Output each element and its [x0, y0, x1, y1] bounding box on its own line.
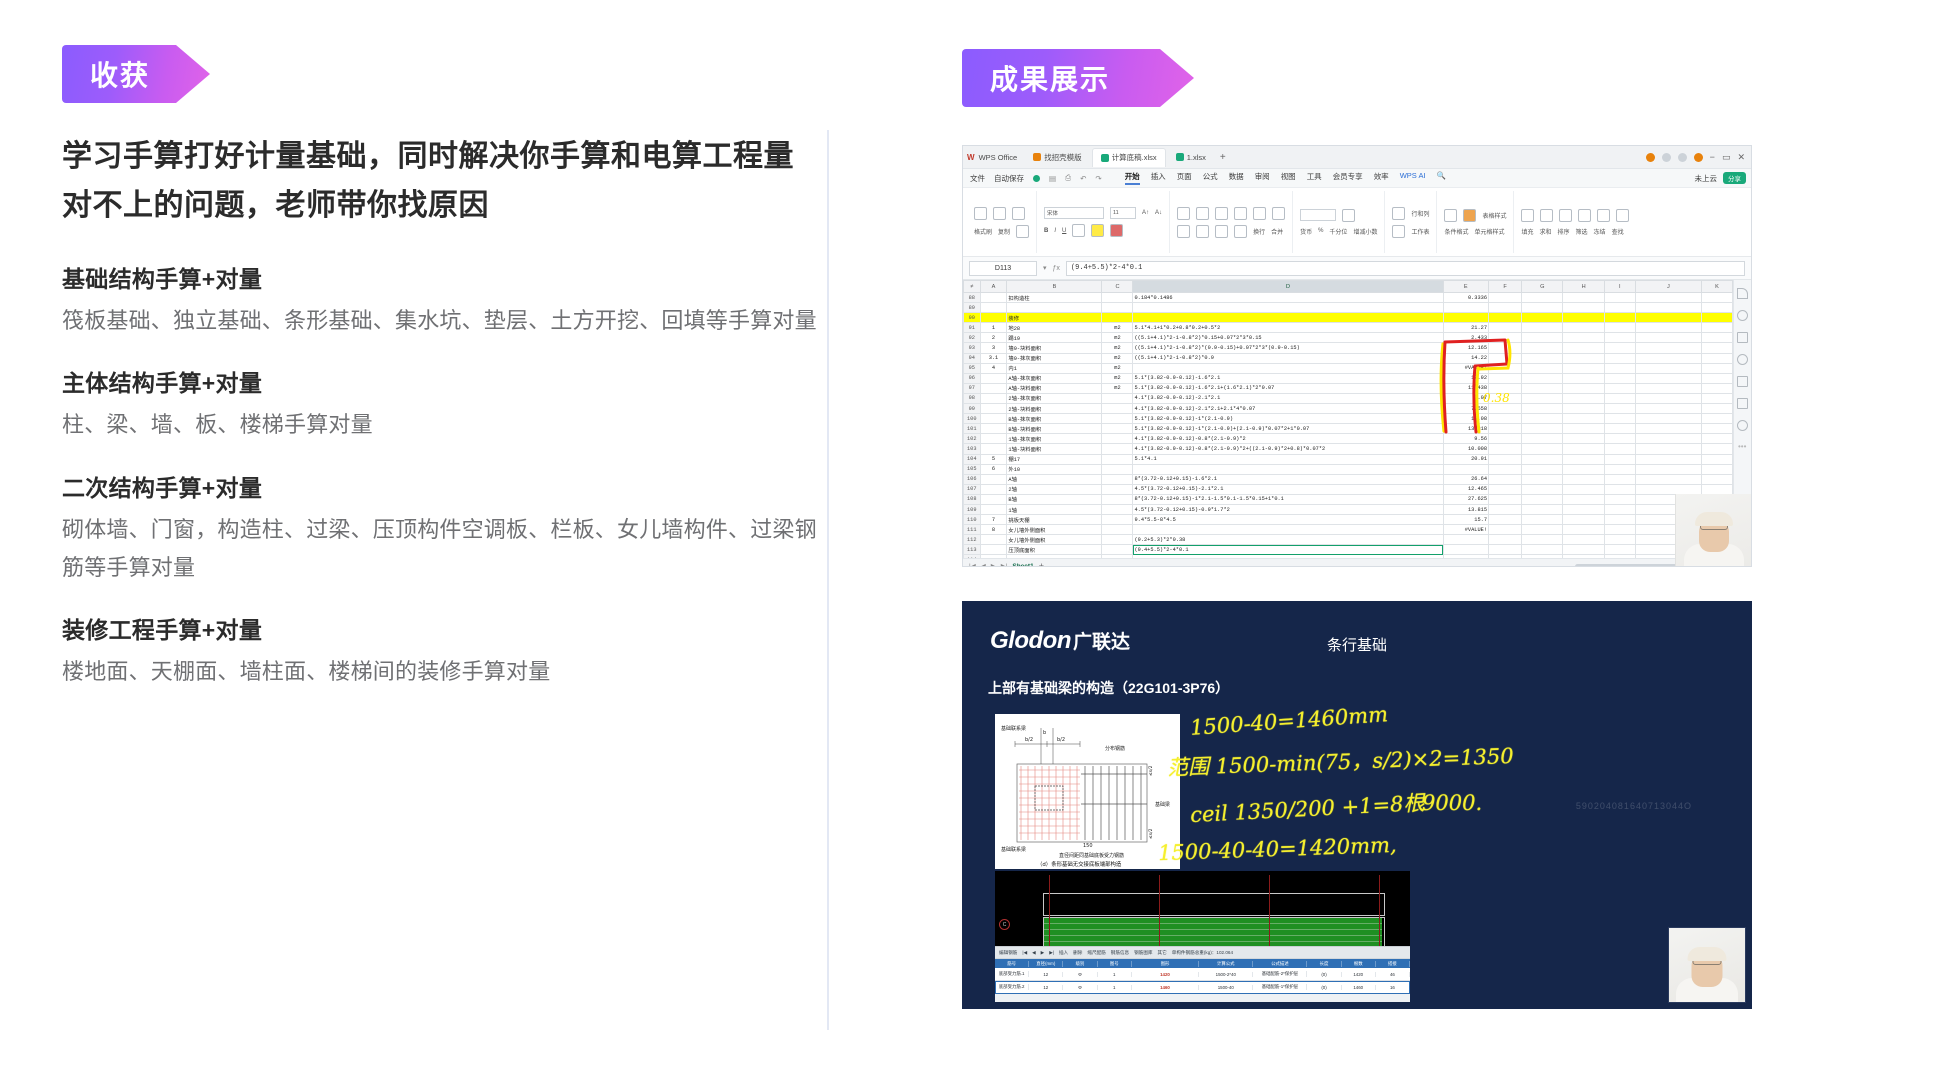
cell-empty[interactable] — [1604, 323, 1635, 333]
cell-empty[interactable] — [1522, 383, 1563, 393]
table-row[interactable]: 101B轴-块料面积5.1*(3.82-0.9-0.12)-1*(2.1-0.9… — [964, 424, 1733, 434]
cell-b[interactable]: A轴-抹灰面积 — [1007, 373, 1102, 383]
cell-empty[interactable] — [1522, 515, 1563, 525]
cell-a[interactable] — [980, 373, 1007, 383]
cell-a[interactable]: 5 — [980, 454, 1007, 464]
cell-empty[interactable] — [1522, 323, 1563, 333]
cell-d[interactable] — [1133, 313, 1443, 323]
cell-d[interactable]: 0.184*0.1486 — [1133, 293, 1443, 303]
row-header[interactable]: 103 — [964, 444, 981, 454]
cell-empty[interactable] — [1701, 454, 1732, 464]
cell-d[interactable]: ((5.1+4.1)*2-1-0.8*2)*0.15+0.07*2*3*0.15 — [1133, 333, 1443, 343]
clipboard-icon[interactable] — [1662, 153, 1671, 162]
cell-empty[interactable] — [1563, 504, 1604, 514]
table-row[interactable]: 89 — [964, 303, 1733, 313]
cell-empty[interactable] — [1635, 434, 1701, 444]
tab-efficiency[interactable]: 效率 — [1374, 171, 1389, 185]
cell-c[interactable] — [1102, 474, 1133, 484]
cell-c[interactable] — [1102, 464, 1133, 474]
cell-empty[interactable] — [1635, 424, 1701, 434]
cell-b[interactable]: 2轴-块料面积 — [1007, 404, 1102, 414]
prev-sheet-icon[interactable]: ◀ — [981, 562, 986, 567]
cell-d[interactable]: ((5.1+4.1)*2-1-0.8*2)*0.9 — [1133, 353, 1443, 363]
cell-empty[interactable] — [1604, 454, 1635, 464]
sort-label[interactable]: 排序 — [1558, 227, 1570, 236]
cell-a[interactable] — [980, 303, 1007, 313]
minimize-button[interactable]: − — [1710, 152, 1715, 162]
tab-formula[interactable]: 公式 — [1203, 171, 1218, 185]
cell-d[interactable] — [1133, 555, 1443, 558]
row-header[interactable]: 111 — [964, 525, 981, 535]
cell-empty[interactable] — [1604, 313, 1635, 323]
cell-e[interactable]: 2.433 — [1443, 333, 1488, 343]
align-top-icon[interactable] — [1177, 207, 1190, 220]
rows-columns-icon[interactable] — [1392, 207, 1405, 220]
align-middle-icon[interactable] — [1196, 207, 1209, 220]
cell-empty[interactable] — [1563, 353, 1604, 363]
col-C[interactable]: C — [1102, 281, 1133, 293]
cell-empty[interactable] — [1604, 535, 1635, 545]
cell-c[interactable] — [1102, 454, 1133, 464]
cell-empty[interactable] — [1563, 323, 1604, 333]
cell-empty[interactable] — [1635, 343, 1701, 353]
cell-empty[interactable] — [1635, 393, 1701, 403]
cell-c[interactable] — [1102, 424, 1133, 434]
cell-empty[interactable] — [1563, 474, 1604, 484]
cell-b[interactable]: 女儿墙外侧面积 — [1007, 525, 1102, 535]
cell-empty[interactable] — [1701, 353, 1732, 363]
paste-dropdown-icon[interactable] — [1016, 225, 1029, 238]
cell-c[interactable]: m2 — [1102, 363, 1133, 373]
cell-empty[interactable] — [1563, 343, 1604, 353]
cell-b[interactable]: 扣构造柱 — [1007, 293, 1102, 303]
cell-c[interactable] — [1102, 535, 1133, 545]
row-header[interactable]: 94 — [964, 353, 981, 363]
cell-d[interactable]: (9.4+5.5)*2-4*0.1 — [1133, 545, 1443, 555]
col-G[interactable]: G — [1522, 281, 1563, 293]
cell-a[interactable] — [980, 545, 1007, 555]
cell-e[interactable] — [1443, 535, 1488, 545]
table-row[interactable]: 1021轴-抹灰面积4.1*(3.82-0.9-0.12)-0.8*(2.1-0… — [964, 434, 1733, 444]
wps-tab-1[interactable]: 计算底稿.xlsx — [1092, 148, 1166, 167]
cell-empty[interactable] — [1489, 454, 1522, 464]
indent-increase-icon[interactable] — [1253, 207, 1266, 220]
cell-d[interactable]: 4.1*(3.82-0.9-0.12)-2.1*2.1 — [1133, 393, 1443, 403]
table-row[interactable]: 943.1墙9-抹灰面积m2((5.1+4.1)*2-1-0.8*2)*0.91… — [964, 353, 1733, 363]
table-row[interactable]: 992轴-块料面积4.1*(3.82-0.9-0.12)-2.1*2.1+2.1… — [964, 404, 1733, 414]
cell-a[interactable]: 3.1 — [980, 353, 1007, 363]
filter-label[interactable]: 筛选 — [1576, 227, 1588, 236]
cell-b[interactable] — [1007, 303, 1102, 313]
cell-empty[interactable] — [1489, 323, 1522, 333]
table-row[interactable]: 1045棚175.1*4.120.91 — [964, 454, 1733, 464]
cell-empty[interactable] — [1635, 373, 1701, 383]
cell-c[interactable] — [1102, 525, 1133, 535]
delete-button[interactable]: 删除 — [1073, 950, 1082, 956]
cell-empty[interactable] — [1522, 545, 1563, 555]
cell-c[interactable] — [1102, 303, 1133, 313]
cell-empty[interactable] — [1563, 535, 1604, 545]
cell-e[interactable]: 20.91 — [1443, 454, 1488, 464]
cell-a[interactable]: 4 — [980, 363, 1007, 373]
freeze-label[interactable]: 冻结 — [1594, 227, 1606, 236]
cell-empty[interactable] — [1635, 484, 1701, 494]
cell-empty[interactable] — [1489, 353, 1522, 363]
cell-a[interactable] — [980, 474, 1007, 484]
decimal-button[interactable]: 增减小数 — [1353, 227, 1377, 236]
cell-e[interactable]: 10.008 — [1443, 444, 1488, 454]
cell-empty[interactable] — [1489, 363, 1522, 373]
cell-empty[interactable] — [1489, 383, 1522, 393]
corner-select-all[interactable]: ≠ — [964, 281, 981, 293]
cell-empty[interactable] — [1489, 313, 1522, 323]
last-sheet-icon[interactable]: ▶| — [1001, 562, 1008, 567]
rebar-library-button[interactable]: 钢筋图库 — [1134, 950, 1152, 956]
name-box[interactable]: D113 — [969, 261, 1037, 276]
cell-empty[interactable] — [1522, 363, 1563, 373]
underline-button[interactable]: U — [1062, 228, 1066, 234]
search-icon[interactable]: 🔍 — [1437, 171, 1446, 185]
shield-icon[interactable] — [1678, 153, 1687, 162]
bold-button[interactable]: B — [1044, 228, 1048, 234]
cell-empty[interactable] — [1522, 444, 1563, 454]
cell-b[interactable]: 踢19 — [1007, 333, 1102, 343]
row-header[interactable]: 88 — [964, 293, 981, 303]
increase-font-icon[interactable]: A↑ — [1142, 210, 1149, 216]
cell-empty[interactable] — [1701, 383, 1732, 393]
cell-c[interactable]: m2 — [1102, 383, 1133, 393]
cell-empty[interactable] — [1635, 414, 1701, 424]
cell-empty[interactable] — [1489, 555, 1522, 558]
cell-empty[interactable] — [1563, 393, 1604, 403]
cell-e[interactable] — [1443, 464, 1488, 474]
table-row[interactable]: 982轴-抹灰面积4.1*(3.82-0.9-0.12)-2.1*2.17.07 — [964, 393, 1733, 403]
cell-e[interactable]: 7.07 — [1443, 393, 1488, 403]
chevron-down-icon[interactable]: ▾ — [1043, 264, 1047, 272]
cell-empty[interactable] — [1701, 393, 1732, 403]
sort-icon[interactable] — [1559, 209, 1572, 222]
cell-e[interactable]: 7.658 — [1443, 404, 1488, 414]
cell-c[interactable] — [1102, 313, 1133, 323]
sheet-tab-sheet1[interactable]: Sheet1 — [1012, 563, 1033, 568]
cell-c[interactable] — [1102, 414, 1133, 424]
cell-empty[interactable] — [1604, 464, 1635, 474]
cell-empty[interactable] — [1489, 414, 1522, 424]
cell-c[interactable] — [1102, 293, 1133, 303]
table-row[interactable]: 113压顶底面积(9.4+5.5)*2-4*0.1 — [964, 545, 1733, 555]
help-icon[interactable] — [1737, 420, 1748, 431]
row-header[interactable]: 108 — [964, 494, 981, 504]
cell-d[interactable]: 5.1*(3.82-0.9-0.12)-1.6*2.1 — [1133, 373, 1443, 383]
cell-empty[interactable] — [1701, 373, 1732, 383]
wps-tab-2[interactable]: 1.xlsx — [1168, 148, 1214, 166]
tab-page[interactable]: 页面 — [1177, 171, 1192, 185]
cell-c[interactable] — [1102, 434, 1133, 444]
cell-b[interactable]: 压顶底面积 — [1007, 545, 1102, 555]
print-icon[interactable]: ⎙ — [1065, 173, 1071, 183]
cell-d[interactable]: 4.1*(3.82-0.9-0.12)-0.8*(2.1-0.9)*2 — [1133, 434, 1443, 444]
cell-empty[interactable] — [1489, 393, 1522, 403]
rebar-table-row[interactable]: 底部受力筋.2 12 Φ 1 1460 1500-40 基础配筋-1*保护层 (… — [995, 981, 1410, 994]
cell-empty[interactable] — [1563, 464, 1604, 474]
cell-c[interactable]: m2 — [1102, 373, 1133, 383]
cell-c[interactable] — [1102, 504, 1133, 514]
table-row[interactable]: 1118女儿墙外侧面积#VALUE! — [964, 525, 1733, 535]
cell-a[interactable] — [980, 393, 1007, 403]
cell-empty[interactable] — [1563, 424, 1604, 434]
row-header[interactable]: 107 — [964, 484, 981, 494]
cell-empty[interactable] — [1489, 444, 1522, 454]
cell-e[interactable]: 13.08 — [1443, 414, 1488, 424]
cell-b[interactable]: 1轴-块料面积 — [1007, 444, 1102, 454]
tab-view[interactable]: 视图 — [1281, 171, 1296, 185]
number-format-select[interactable] — [1300, 209, 1336, 221]
cell-empty[interactable] — [1701, 414, 1732, 424]
cell-a[interactable] — [980, 555, 1007, 558]
cell-b[interactable]: 地28 — [1007, 323, 1102, 333]
cell-d[interactable]: 5.1*4.1+1*0.2+0.8*0.2+0.5*2 — [1133, 323, 1443, 333]
cell-a[interactable] — [980, 414, 1007, 424]
col-B[interactable]: B — [1007, 281, 1102, 293]
cell-a[interactable]: 6 — [980, 464, 1007, 474]
cell-a[interactable] — [980, 383, 1007, 393]
cell-e[interactable]: 13.318 — [1443, 424, 1488, 434]
resource-icon[interactable] — [1737, 376, 1748, 387]
row-header[interactable]: 105 — [964, 464, 981, 474]
cell-empty[interactable] — [1563, 414, 1604, 424]
cell-a[interactable]: 1 — [980, 323, 1007, 333]
merge-cells-icon[interactable] — [1272, 207, 1285, 220]
cell-b[interactable]: 2轴 — [1007, 484, 1102, 494]
cell-empty[interactable] — [1635, 444, 1701, 454]
cell-empty[interactable] — [1604, 383, 1635, 393]
table-icon[interactable] — [1444, 209, 1457, 222]
paste-icon[interactable] — [974, 207, 987, 220]
cell-empty[interactable] — [1489, 343, 1522, 353]
cell-e[interactable]: 13.815 — [1443, 504, 1488, 514]
table-row[interactable]: 954内1m2#VALUE! — [964, 363, 1733, 373]
table-row[interactable]: 911地28m25.1*4.1+1*0.2+0.8*0.2+0.5*221.27 — [964, 323, 1733, 333]
cell-b[interactable]: 外10 — [1007, 464, 1102, 474]
cell-a[interactable] — [980, 424, 1007, 434]
sum-label[interactable]: 求和 — [1540, 227, 1552, 236]
avatar[interactable] — [1694, 153, 1703, 162]
close-button[interactable]: ✕ — [1737, 152, 1745, 163]
worksheet-icon[interactable] — [1392, 225, 1405, 238]
cell-c[interactable] — [1102, 555, 1133, 558]
prev-record-icon[interactable]: ◀ — [1032, 950, 1036, 956]
cell-c[interactable] — [1102, 515, 1133, 525]
cell-empty[interactable] — [1489, 373, 1522, 383]
cell-e[interactable] — [1443, 545, 1488, 555]
cell-empty[interactable] — [1604, 474, 1635, 484]
cell-d[interactable]: 4.1*(3.82-0.9-0.12)-2.1*2.1+2.1*4*0.07 — [1133, 404, 1443, 414]
cell-a[interactable] — [980, 404, 1007, 414]
italic-button[interactable]: I — [1054, 228, 1056, 234]
autosave-toggle[interactable]: 自动保存 — [994, 173, 1024, 184]
cell-c[interactable] — [1102, 484, 1133, 494]
status-icon[interactable] — [1646, 153, 1655, 162]
file-menu-button[interactable]: 文件 — [970, 173, 985, 184]
merge-label[interactable]: 合并 — [1271, 227, 1283, 236]
cell-a[interactable] — [980, 293, 1007, 303]
cell-b[interactable]: 内1 — [1007, 363, 1102, 373]
cell-d[interactable]: (9.2+5.3)*2*0.38 — [1133, 535, 1443, 545]
cell-empty[interactable] — [1522, 303, 1563, 313]
table-row[interactable]: 88扣构造柱0.184*0.14860.3336 — [964, 293, 1733, 303]
cell-empty[interactable] — [1604, 434, 1635, 444]
tools-icon[interactable] — [1737, 354, 1748, 365]
cell-empty[interactable] — [1563, 333, 1604, 343]
cell-empty[interactable] — [1635, 293, 1701, 303]
cell-a[interactable]: 3 — [980, 343, 1007, 353]
cell-d[interactable] — [1133, 303, 1443, 313]
cell-empty[interactable] — [1604, 515, 1635, 525]
cell-e[interactable]: 11.438 — [1443, 383, 1488, 393]
cell-a[interactable]: 7 — [980, 515, 1007, 525]
new-tab-button[interactable]: + — [1220, 152, 1226, 163]
cell-empty[interactable] — [1604, 343, 1635, 353]
cell-empty[interactable] — [1604, 363, 1635, 373]
cell-empty[interactable] — [1563, 313, 1604, 323]
font-name-select[interactable]: 宋体 — [1044, 207, 1104, 219]
cell-c[interactable]: m2 — [1102, 353, 1133, 363]
cell-empty[interactable] — [1701, 303, 1732, 313]
cell-empty[interactable] — [1563, 555, 1604, 558]
cell-e[interactable]: 12.165 — [1443, 343, 1488, 353]
table-row[interactable]: 1072轴4.5*(3.72-0.12+0.15)-2.1*2.112.465 — [964, 484, 1733, 494]
tab-start[interactable]: 开始 — [1125, 171, 1140, 185]
formula-input[interactable]: (9.4+5.5)*2-4*0.1 — [1066, 261, 1745, 276]
table-row[interactable]: 100B轴-抹灰面积5.1*(3.82-0.9-0.12)-1*(2.1-0.9… — [964, 414, 1733, 424]
cell-a[interactable] — [980, 494, 1007, 504]
fill-color-icon[interactable] — [1091, 224, 1104, 237]
cell-empty[interactable] — [1604, 444, 1635, 454]
cell-empty[interactable] — [1604, 525, 1635, 535]
other-button[interactable]: 其它 — [1158, 950, 1167, 956]
cell-d[interactable]: 9.4*5.5-8*4.5 — [1133, 515, 1443, 525]
tab-insert[interactable]: 插入 — [1151, 171, 1166, 185]
cell-empty[interactable] — [1522, 313, 1563, 323]
cell-b[interactable]: B轴-块料面积 — [1007, 424, 1102, 434]
cell-empty[interactable] — [1563, 404, 1604, 414]
cell-empty[interactable] — [1701, 313, 1732, 323]
font-color-icon[interactable] — [1110, 224, 1123, 237]
row-header[interactable]: 95 — [964, 363, 981, 373]
cell-empty[interactable] — [1489, 484, 1522, 494]
cell-e[interactable]: 10.92 — [1443, 373, 1488, 383]
cell-c[interactable]: m2 — [1102, 333, 1133, 343]
tab-tools[interactable]: 工具 — [1307, 171, 1322, 185]
table-style-label[interactable]: 表格样式 — [1482, 211, 1506, 220]
cell-empty[interactable] — [1701, 484, 1732, 494]
cell-e[interactable]: 9.56 — [1443, 434, 1488, 444]
cell-d[interactable]: 5.1*(3.82-0.9-0.12)-1*(2.1-0.9) — [1133, 414, 1443, 424]
cell-empty[interactable] — [1701, 464, 1732, 474]
row-header[interactable]: 109 — [964, 504, 981, 514]
cell-d[interactable] — [1133, 363, 1443, 373]
tab-member[interactable]: 会员专享 — [1333, 171, 1363, 185]
cell-d[interactable]: 4.5*(3.72-0.12+0.15)-2.1*2.1 — [1133, 484, 1443, 494]
cell-empty[interactable] — [1522, 535, 1563, 545]
cell-empty[interactable] — [1604, 303, 1635, 313]
col-D[interactable]: D — [1133, 281, 1443, 293]
cell-d[interactable]: 8*(3.72-0.12+0.15)-1.6*2.1 — [1133, 474, 1443, 484]
cell-a[interactable]: 2 — [980, 333, 1007, 343]
cell-empty[interactable] — [1522, 464, 1563, 474]
cell-a[interactable] — [980, 535, 1007, 545]
col-K[interactable]: K — [1701, 281, 1732, 293]
cell-empty[interactable] — [1522, 293, 1563, 303]
cell-empty[interactable] — [1522, 454, 1563, 464]
first-record-icon[interactable]: |◀ — [1022, 950, 1027, 956]
cell-c[interactable]: m2 — [1102, 323, 1133, 333]
cell-d[interactable] — [1133, 464, 1443, 474]
cell-d[interactable]: 4.5*(3.72-0.12+0.15)-0.9*1.7*2 — [1133, 504, 1443, 514]
cell-d[interactable]: ((5.1+4.1)*2-1-0.8*2)*(0.9-0.15)+0.07*2*… — [1133, 343, 1443, 353]
row-header[interactable]: 97 — [964, 383, 981, 393]
find-icon[interactable] — [1616, 209, 1629, 222]
cell-d[interactable]: 5.1*(3.82-0.9-0.12)-1*(2.1-0.9)+(2.1-0.9… — [1133, 424, 1443, 434]
cell-empty[interactable] — [1489, 525, 1522, 535]
cell-empty[interactable] — [1489, 434, 1522, 444]
convert-icon[interactable] — [1342, 209, 1355, 222]
col-A[interactable]: A — [980, 281, 1007, 293]
cell-empty[interactable] — [1604, 373, 1635, 383]
cell-empty[interactable] — [1563, 383, 1604, 393]
row-header[interactable]: 112 — [964, 535, 981, 545]
row-header[interactable]: 96 — [964, 373, 981, 383]
row-header[interactable]: 98 — [964, 393, 981, 403]
cell-e[interactable]: 15.7 — [1443, 515, 1488, 525]
cell-empty[interactable] — [1635, 313, 1701, 323]
cell-c[interactable] — [1102, 393, 1133, 403]
cell-empty[interactable] — [1489, 494, 1522, 504]
cell-empty[interactable] — [1563, 303, 1604, 313]
cell-empty[interactable] — [1522, 404, 1563, 414]
fill-down-icon[interactable] — [1521, 209, 1534, 222]
freeze-icon[interactable] — [1597, 209, 1610, 222]
cursor-icon[interactable] — [1737, 288, 1748, 299]
cell-empty[interactable] — [1489, 545, 1522, 555]
tab-wps-ai[interactable]: WPS AI — [1400, 171, 1426, 185]
cell-empty[interactable] — [1563, 444, 1604, 454]
cell-empty[interactable] — [1635, 353, 1701, 363]
cell-b[interactable]: A轴-块料面积 — [1007, 383, 1102, 393]
cell-a[interactable] — [980, 434, 1007, 444]
cell-empty[interactable] — [1701, 404, 1732, 414]
cell-b[interactable]: 棚17 — [1007, 454, 1102, 464]
row-header[interactable]: 93 — [964, 343, 981, 353]
cloud-status-label[interactable]: 未上云 — [1695, 173, 1718, 184]
cell-empty[interactable] — [1522, 525, 1563, 535]
cell-empty[interactable] — [1563, 545, 1604, 555]
cell-empty[interactable] — [1701, 343, 1732, 353]
cell-empty[interactable] — [1522, 424, 1563, 434]
cell-empty[interactable] — [1489, 333, 1522, 343]
spreadsheet-grid[interactable]: ≠ A B C D E F G H I J K — [963, 280, 1733, 558]
table-row[interactable]: 108B轴8*(3.72-0.12+0.15)-1*2.1-1.5*0.1-1.… — [964, 494, 1733, 504]
cell-empty[interactable] — [1522, 474, 1563, 484]
align-right-icon[interactable] — [1215, 225, 1228, 238]
first-sheet-icon[interactable]: |◀ — [969, 562, 976, 567]
copy-icon[interactable] — [993, 207, 1006, 220]
autosum-icon[interactable] — [1540, 209, 1553, 222]
cell-empty[interactable] — [1522, 484, 1563, 494]
cell-empty[interactable] — [1563, 484, 1604, 494]
wps-tab-0[interactable]: 找招壳模版 — [1025, 148, 1090, 166]
cell-e[interactable]: #VALUE! — [1443, 363, 1488, 373]
